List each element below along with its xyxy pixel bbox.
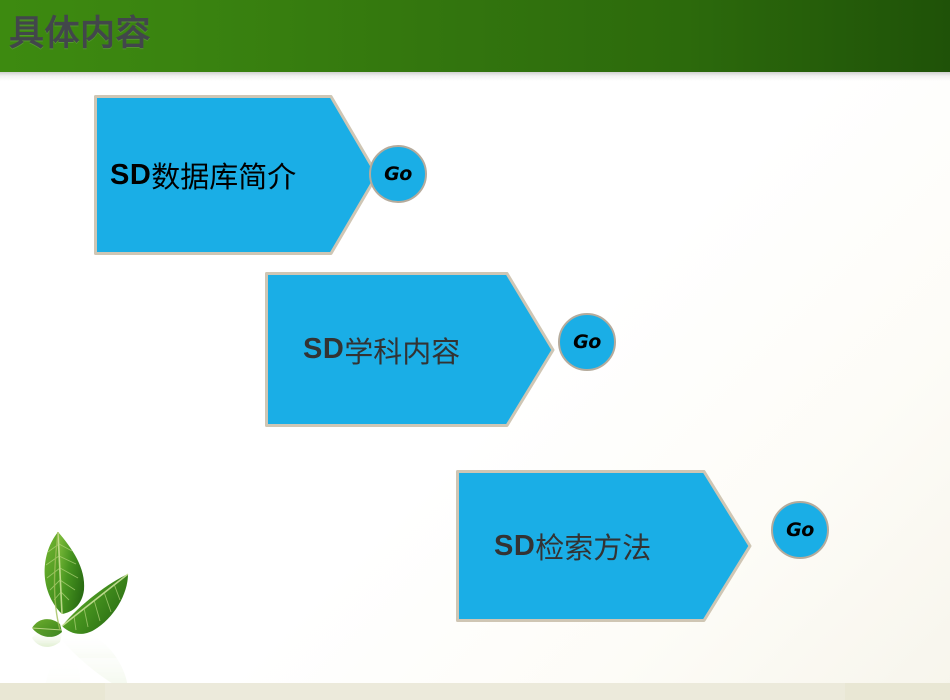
go-button-3-label: Go bbox=[786, 521, 814, 540]
page-title: 具体内容 bbox=[9, 8, 151, 60]
go-button-1[interactable]: Go bbox=[369, 145, 427, 203]
go-button-3[interactable]: Go bbox=[771, 501, 829, 559]
bottom-band-right-segment bbox=[845, 683, 950, 700]
slide-header-bar: 具体内容 bbox=[0, 0, 950, 72]
go-button-1-label: Go bbox=[384, 165, 412, 184]
bottom-accent-band bbox=[0, 683, 950, 700]
slide-canvas: 具体内容 SD数据库简介 Go SD学科内容 Go SD检索方法 bbox=[0, 0, 950, 700]
pentagon-shape-3[interactable] bbox=[456, 470, 752, 624]
go-button-2[interactable]: Go bbox=[558, 313, 616, 371]
go-button-2-label: Go bbox=[573, 333, 601, 352]
leaves-decoration bbox=[18, 508, 148, 683]
content-item-1[interactable]: SD数据库简介 Go bbox=[94, 95, 439, 255]
content-item-2[interactable]: SD学科内容 Go bbox=[265, 272, 625, 427]
pentagon-shape-2[interactable] bbox=[265, 272, 555, 429]
pentagon-shape-1[interactable] bbox=[94, 95, 379, 257]
leaf-icon bbox=[18, 508, 148, 683]
content-item-3[interactable]: SD检索方法 Go bbox=[456, 470, 831, 622]
bottom-band-left-segment bbox=[0, 683, 105, 700]
